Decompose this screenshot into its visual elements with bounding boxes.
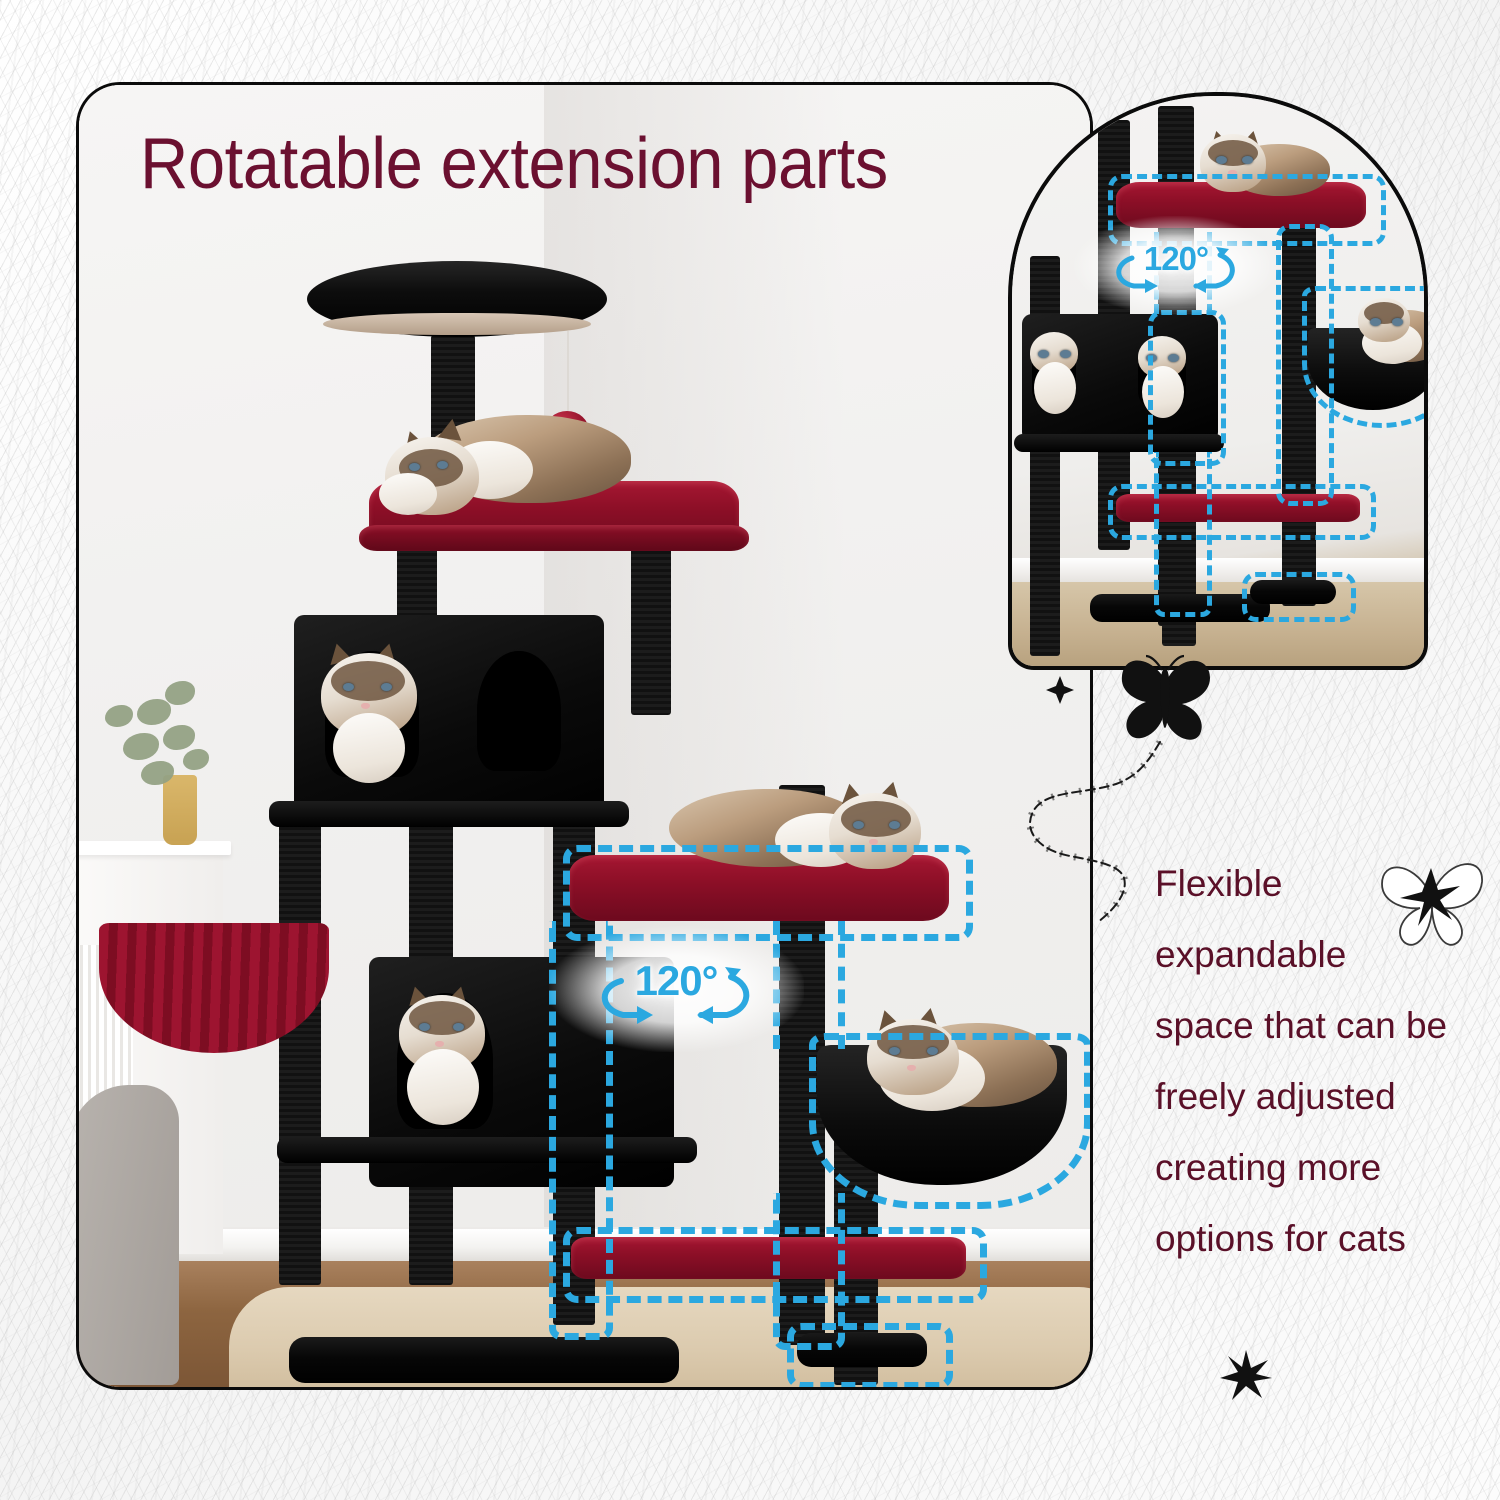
chain-trail [1030, 742, 1160, 922]
page-title: Rotatable extension parts [140, 118, 1040, 210]
copy-line-5: creating more [1155, 1132, 1485, 1203]
cat-on-top-platform [351, 407, 631, 503]
inset-outline-condo [1148, 310, 1226, 466]
rotatable-outline-bottom-shelf [563, 1227, 987, 1303]
sparkle-star-small [1046, 676, 1074, 704]
sparkle-star-large [1218, 1348, 1274, 1404]
rotation-badge-inset: 120° [1108, 232, 1244, 298]
inset-baseboard [1012, 558, 1424, 582]
inset-outline-post-base [1242, 572, 1356, 622]
rotatable-outline-post-base [787, 1323, 953, 1389]
lower-condo-deck [277, 1137, 697, 1163]
red-top-platform-lip [359, 525, 749, 551]
butterfly-silhouette-filled [1122, 656, 1210, 740]
cabinet-top-ledge [76, 841, 231, 855]
inset-cat-left-opening [1026, 328, 1086, 420]
main-product-photo-panel: 120° [76, 82, 1093, 1390]
upper-condo-deck [269, 801, 629, 827]
tree-main-base [289, 1337, 679, 1383]
copy-line-3: space that can be [1155, 990, 1485, 1061]
grey-armchair [76, 1085, 179, 1385]
top-perch-board [323, 313, 591, 335]
copy-line-1: Flexible [1155, 848, 1485, 919]
upper-condo-right-opening [477, 651, 561, 771]
copy-line-6: options for cats [1155, 1203, 1485, 1274]
rotation-badge-inset-label: 120° [1144, 240, 1208, 278]
page-title-text: Rotatable extension parts [140, 118, 977, 210]
rotation-badge-main: 120° [591, 947, 761, 1031]
inset-closeup-panel: 120° [1008, 92, 1428, 670]
rotation-badge-label: 120° [635, 957, 718, 1005]
inset-scene: 120° [1012, 96, 1424, 666]
living-room-scene: 120° [79, 85, 1090, 1387]
inset-outline-red-bottom-shelf [1108, 484, 1376, 540]
post-mid-left [279, 815, 321, 1285]
rotatable-outline-black-hammock [809, 1033, 1091, 1209]
cat-in-upper-condo [315, 641, 435, 791]
copy-line-2: expandable [1155, 919, 1485, 990]
toy-string [567, 331, 569, 415]
cat-in-lower-condo [391, 981, 507, 1131]
copy-line-4: freely adjusted [1155, 1061, 1485, 1132]
feature-description-block: Flexible expandable space that can be fr… [1155, 848, 1485, 1274]
